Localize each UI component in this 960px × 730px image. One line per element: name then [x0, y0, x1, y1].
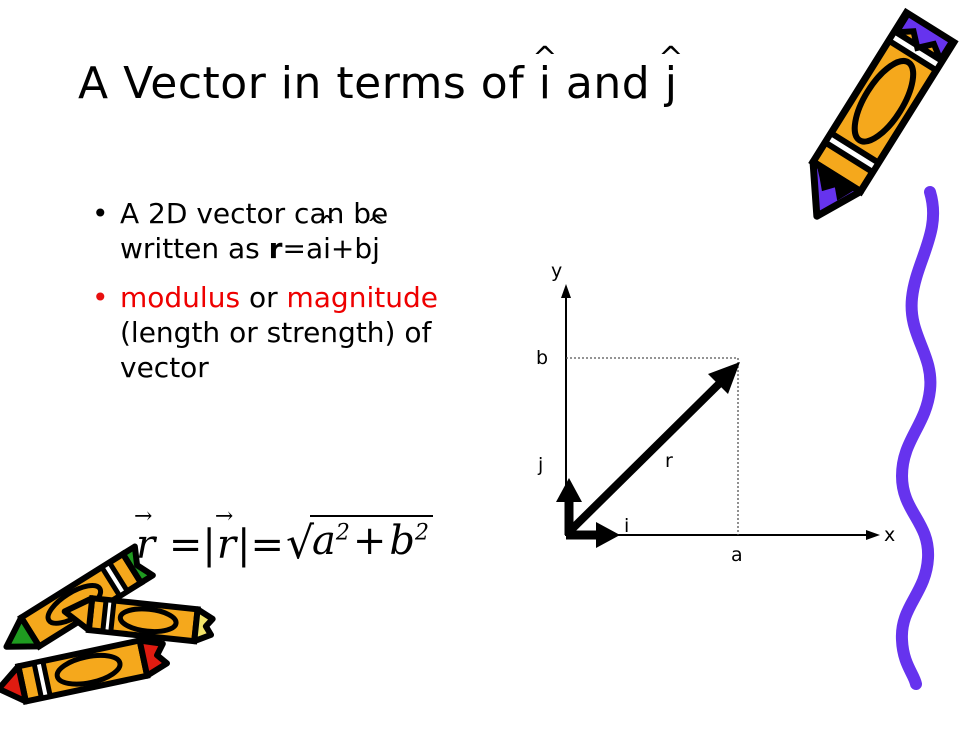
hat-accent-icon: ^ [318, 214, 336, 236]
bullet-1-j-hat-group: ^j [372, 231, 380, 266]
equation-exp-b: 2 [415, 521, 429, 546]
bullet-2-modulus: modulus [120, 281, 240, 314]
list-item: • A 2D vector can be written as r=a^i+b^… [80, 196, 475, 266]
equation-bar-close: | [237, 522, 250, 568]
hat-accent-icon: ^ [532, 44, 558, 74]
y-axis-arrowhead-icon [561, 284, 571, 298]
crayon-c-butt-yellow [194, 609, 213, 642]
equation-radicand: a2+b2 [310, 515, 433, 564]
crayons-bottom-left-clipart [0, 560, 216, 720]
hat-accent-icon: ^ [367, 214, 385, 236]
crayon-a-tip-red [0, 666, 26, 706]
label-j: j [538, 456, 543, 475]
hat-accent-icon: ^ [658, 44, 684, 74]
slide-canvas: A Vector in terms of ^i and ^j • A 2D ve… [0, 0, 960, 720]
bullet-marker-icon: • [92, 280, 109, 315]
equation-equals-2: = [250, 522, 284, 568]
vector-arrow-icon: → [134, 506, 152, 528]
title-prefix: A Vector in terms of [78, 58, 539, 109]
equation-exp-a: 2 [336, 521, 350, 546]
crayon-a-butt [140, 636, 169, 676]
vector-r-shaft [568, 375, 728, 533]
equation-plus: + [350, 518, 390, 564]
x-axis-arrowhead-icon [866, 530, 880, 540]
label-r: r [665, 452, 673, 471]
equation-radical: √a2+b2 [284, 518, 433, 569]
axis-label-y: y [551, 262, 562, 281]
bullet-1-i-hat-group: ^i [323, 231, 331, 266]
list-item: • modulus or magnitude (length or streng… [80, 280, 475, 385]
diagram-svg [500, 250, 920, 580]
crayon-top-right-clipart [776, 0, 960, 224]
bullet-1-line-1: A 2D vector can be [120, 197, 388, 230]
vector-diagram: y x b a j i r [500, 250, 920, 580]
unit-vector-j-arrowhead-icon [556, 478, 582, 502]
squiggle-path [902, 192, 933, 684]
title-middle: and [551, 58, 664, 109]
equation-term-a: a [312, 518, 336, 564]
bullet-2-or: or [240, 281, 286, 314]
label-i: i [624, 517, 629, 536]
crayon-c-band [103, 600, 114, 633]
bullet-list: • A 2D vector can be written as r=a^i+b^… [80, 196, 475, 399]
bullet-2-magnitude: magnitude [287, 281, 438, 314]
purple-wavy-line-decoration [886, 186, 960, 686]
bullet-1-line-2-prefix: written as [120, 232, 269, 265]
label-b: b [536, 349, 548, 368]
label-a: a [731, 546, 743, 565]
bullet-marker-icon: • [92, 196, 109, 231]
unit-vector-i-arrowhead-icon [596, 522, 620, 548]
title-j-hat-group: ^j [665, 58, 678, 110]
equation-term-b: b [389, 518, 415, 564]
bullet-1-vector-r: r [269, 232, 283, 265]
title-i-hat-group: ^i [539, 58, 552, 110]
page-title: A Vector in terms of ^i and ^j [78, 58, 868, 110]
bullet-2-tail: (length or strength) of vector [120, 316, 431, 384]
vector-arrow-icon: → [215, 506, 233, 528]
